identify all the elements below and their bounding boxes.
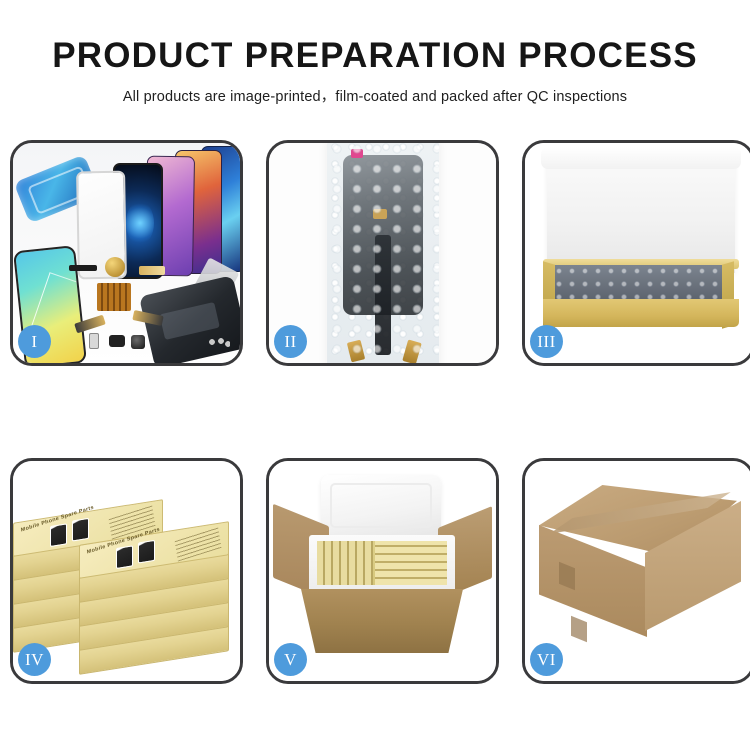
- packed-boxes-icon: [317, 541, 447, 585]
- step-panel-2: II: [266, 140, 499, 366]
- screws-icon: [208, 337, 230, 347]
- step-panel-4: Mobile Phone Spare Parts Mobile Phone Sp…: [10, 458, 243, 684]
- box-art-screen-icon: [72, 518, 89, 542]
- bubble-wrapped-contents-icon: [553, 265, 729, 303]
- bubble-wrap-bag-icon: [327, 143, 439, 363]
- header: PRODUCT PREPARATION PROCESS All products…: [0, 0, 750, 106]
- product-preparation-infographic: PRODUCT PREPARATION PROCESS All products…: [0, 0, 750, 750]
- step-panel-1: I: [10, 140, 243, 366]
- step-badge-1: I: [18, 325, 51, 358]
- foam-top-edge-icon: [541, 147, 741, 169]
- bubble-texture-overlay: [327, 143, 439, 363]
- sim-tray-icon: [89, 333, 99, 349]
- chip-array-icon: [97, 283, 131, 311]
- step-panel-6: VI: [522, 458, 750, 684]
- step-badge-4: IV: [18, 643, 51, 676]
- loudspeaker-icon: [109, 335, 125, 347]
- box-label-text: Mobile Phone Spare Parts: [21, 498, 116, 534]
- page-title: PRODUCT PREPARATION PROCESS: [0, 36, 750, 76]
- step-badge-6: VI: [530, 643, 563, 676]
- step-badge-5: V: [274, 643, 307, 676]
- earpiece-mesh-icon: [69, 265, 97, 271]
- step-badge-2: II: [274, 325, 307, 358]
- camera-module-icon: [131, 335, 145, 349]
- flex-cable-icon: [139, 266, 165, 275]
- box-spec-lines: [175, 527, 222, 562]
- step-panel-5: V: [266, 458, 499, 684]
- page-subtitle: All products are image-printed，film-coat…: [0, 85, 750, 106]
- box-art-screen-icon: [116, 545, 133, 569]
- step-badge-3: III: [530, 325, 563, 358]
- carton-seal-lower-icon: [571, 616, 587, 642]
- vibration-motor-icon: [105, 257, 125, 277]
- foam-lid-icon: [321, 475, 441, 537]
- carton-body-icon: [301, 589, 463, 653]
- kraft-tray-front-icon: [543, 299, 739, 327]
- foam-sheet-icon: [547, 151, 735, 273]
- box-art-screen-icon: [138, 540, 155, 564]
- box-art-screen-icon: [50, 523, 67, 547]
- step-panel-3: III: [522, 140, 750, 366]
- process-steps-grid: I II: [10, 140, 740, 685]
